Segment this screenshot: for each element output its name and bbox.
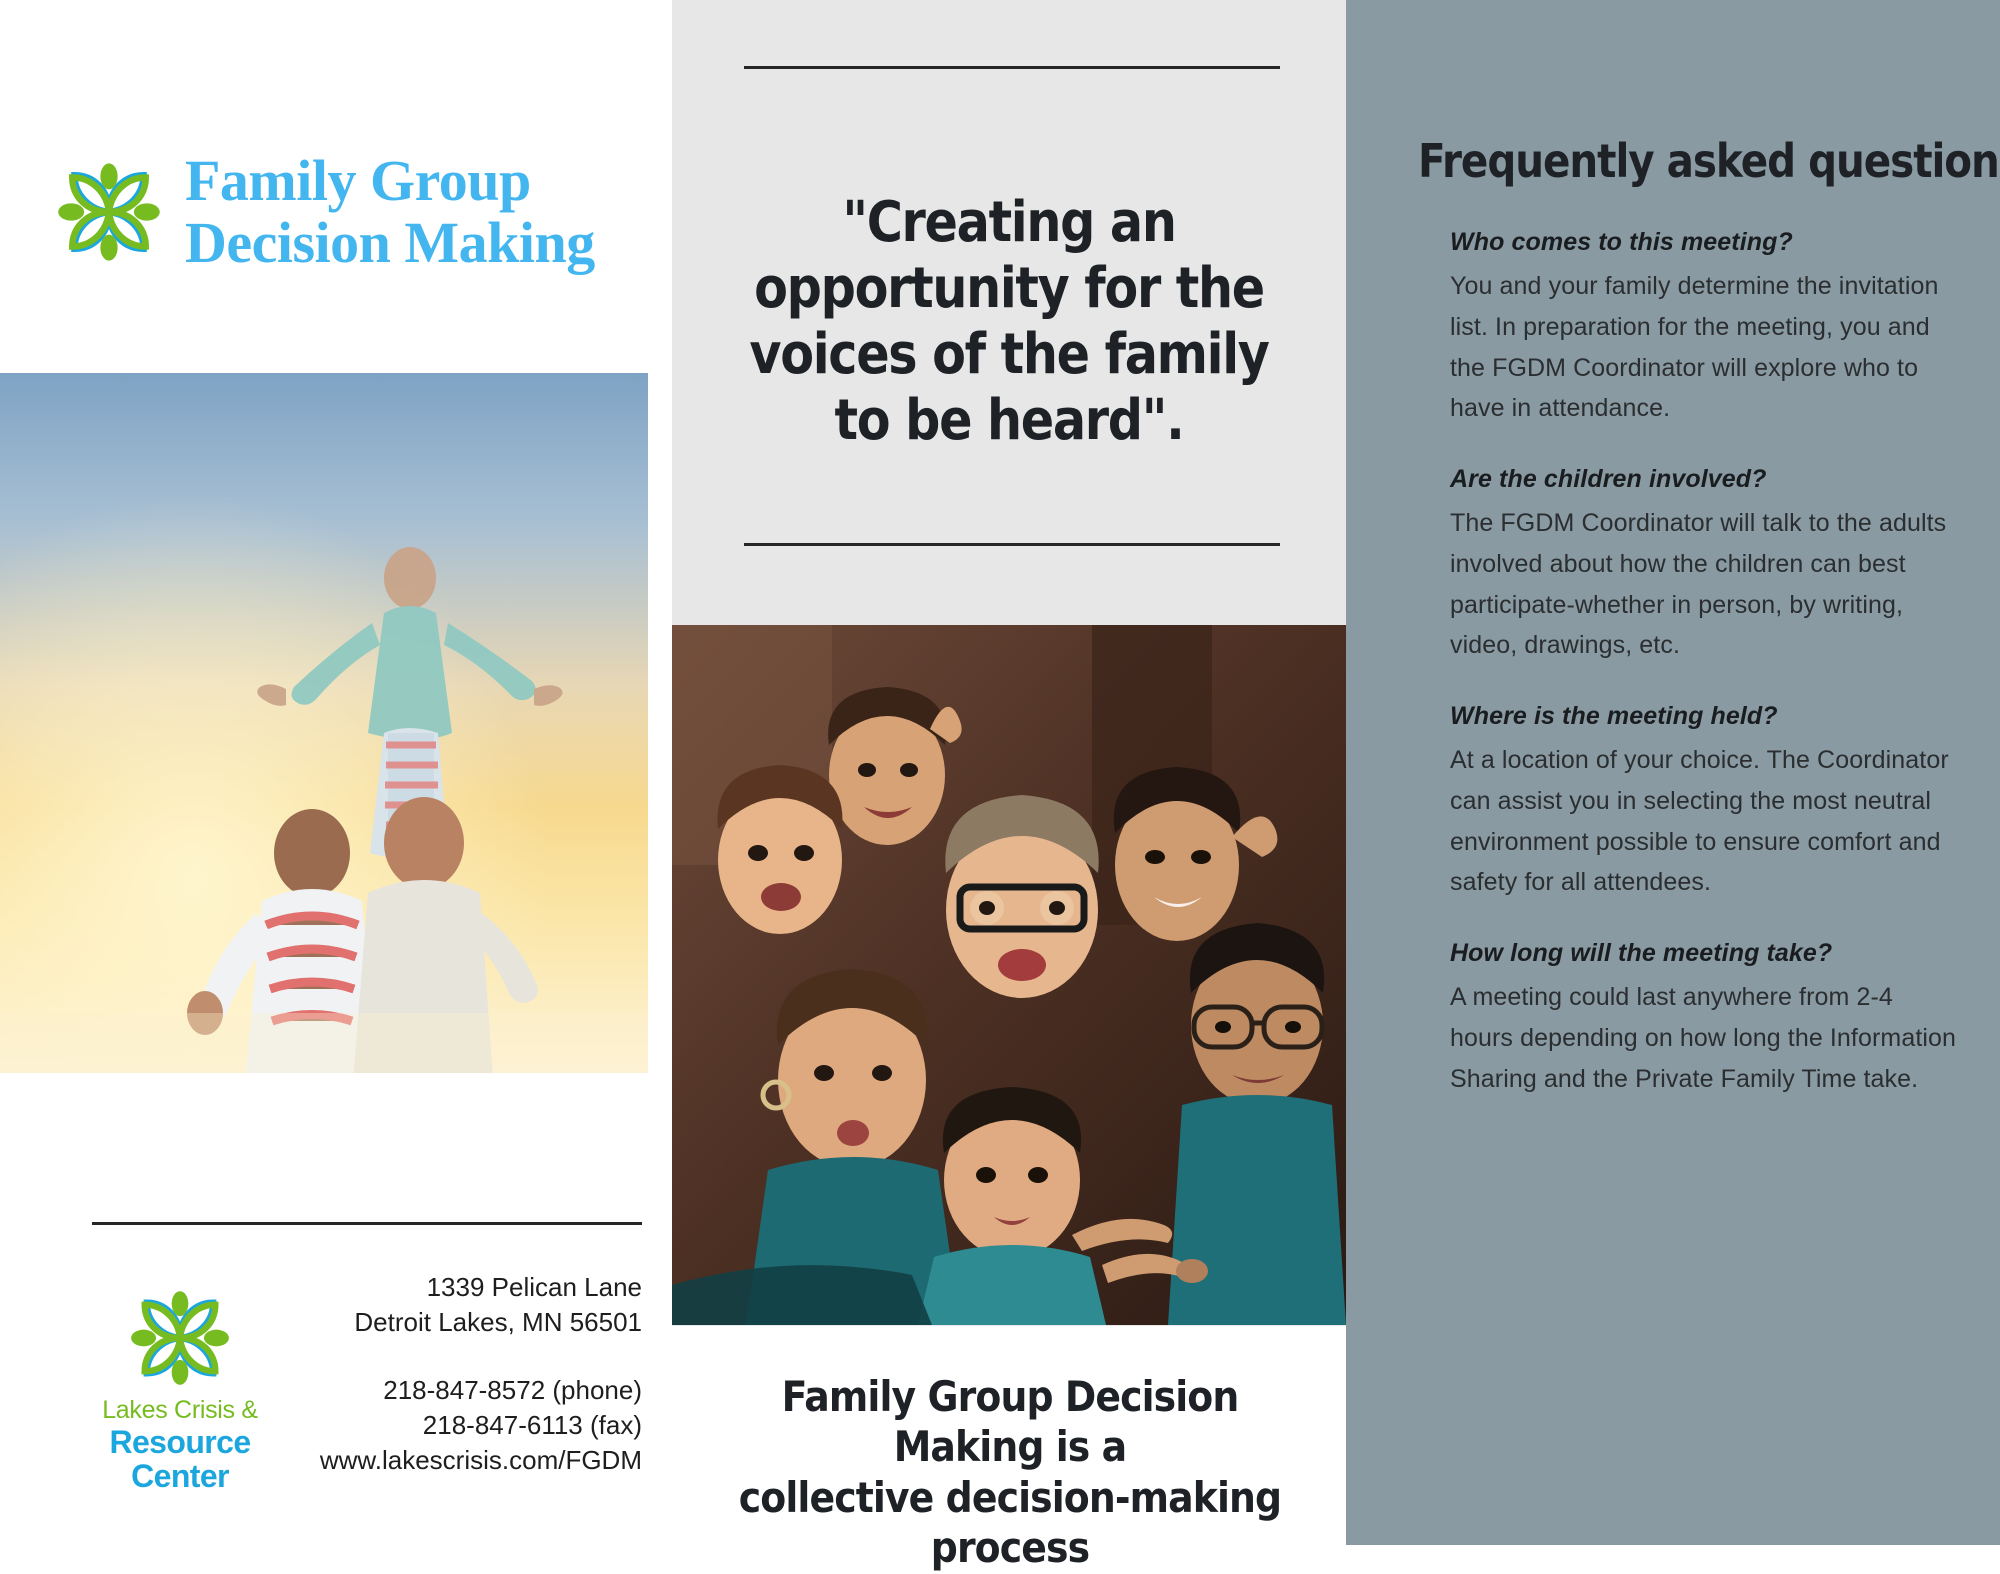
faq-list: Who comes to this meeting? You and your … [1450, 222, 1960, 1129]
faq-answer: At a location of your choice. The Coordi… [1450, 740, 1960, 903]
address-line-2: Detroit Lakes, MN 56501 [288, 1305, 642, 1340]
faq-item: Where is the meeting held? At a location… [1450, 696, 1960, 903]
brand-title: Family Group Decision Making [185, 150, 595, 274]
faq-question: Where is the meeting held? [1450, 696, 1960, 736]
faq-question: Who comes to this meeting? [1450, 222, 1960, 262]
family-group-image [672, 625, 1346, 1325]
faq-question: How long will the meeting take? [1450, 933, 1960, 973]
center-tagline: Family Group Decision Making is a collec… [722, 1372, 1298, 1574]
pull-quote: "Creating an opportunity for the voices … [739, 190, 1279, 454]
lakes-crisis-flower-logo-icon [128, 1286, 232, 1390]
faq-answer: A meeting could last anywhere from 2-4 h… [1450, 977, 1960, 1099]
phone-number: 218-847-8572 (phone) [288, 1373, 642, 1408]
brochure-page: Family Group Decision Making [0, 0, 2000, 1545]
contact-block: Lakes Crisis & Resource Center 1339 Peli… [90, 1258, 642, 1493]
org-logo-line2: Resource Center [90, 1425, 270, 1493]
faq-item: How long will the meeting take? A meetin… [1450, 933, 1960, 1099]
org-logo: Lakes Crisis & Resource Center [90, 1258, 270, 1493]
address-line-1: 1339 Pelican Lane [288, 1270, 642, 1305]
hero-sunset-family-image [0, 373, 648, 1073]
faq-question: Are the children involved? [1450, 459, 1960, 499]
org-logo-line1: Lakes Crisis & [90, 1396, 270, 1425]
faq-answer: The FGDM Coordinator will talk to the ad… [1450, 503, 1960, 666]
left-panel-divider [92, 1222, 642, 1225]
left-panel: Family Group Decision Making [0, 0, 672, 1545]
brand-header: Family Group Decision Making [55, 150, 595, 274]
fax-number: 218-847-6113 (fax) [288, 1408, 642, 1443]
quote-rule-bottom [744, 543, 1280, 546]
website-url[interactable]: www.lakescrisis.com/FGDM [288, 1443, 642, 1478]
faq-heading: Frequently asked questions [1418, 138, 2000, 184]
faq-answer: You and your family determine the invita… [1450, 266, 1960, 429]
faq-item: Are the children involved? The FGDM Coor… [1450, 459, 1960, 666]
contact-details: 1339 Pelican Lane Detroit Lakes, MN 5650… [288, 1258, 642, 1479]
quote-rule-top [744, 66, 1280, 69]
flower-petal-logo-icon [55, 158, 163, 266]
faq-item: Who comes to this meeting? You and your … [1450, 222, 1960, 429]
